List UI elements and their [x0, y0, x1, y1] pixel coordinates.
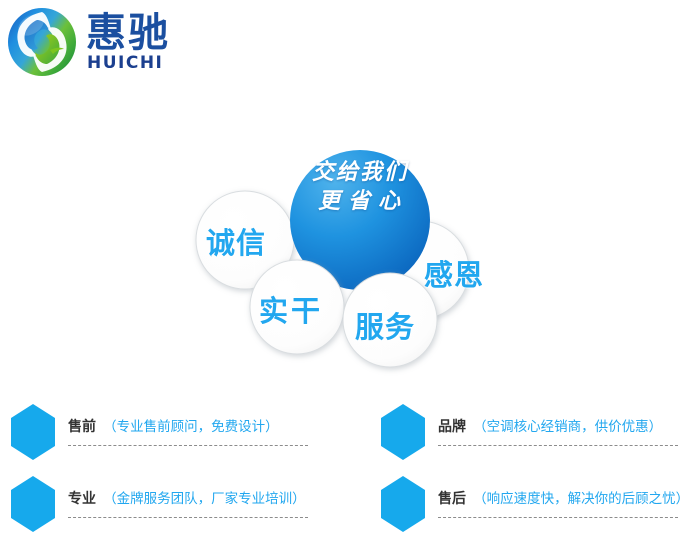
feature-desc: （响应速度快，解决你的后顾之忧）	[473, 491, 689, 507]
feature-desc: （空调核心经销商，供价优惠）	[473, 419, 662, 435]
service-feature-list: 售前 （专业售前顾问，免费设计） 品牌 （空调核心经销商，供价优惠） 专业 （金…	[0, 395, 700, 538]
center-slogan: 交给我们 更省心	[290, 158, 430, 216]
feature-text: 品牌 （空调核心经销商，供价优惠）	[438, 415, 700, 436]
brand-name-cn: 惠驰	[86, 12, 170, 54]
feature-divider	[438, 445, 678, 446]
hexagon-icon	[10, 475, 56, 533]
feature-item-brand[interactable]: 品牌 （空调核心经销商，供价优惠）	[380, 403, 700, 465]
hexagon-icon	[10, 403, 56, 461]
bubble-chengxin: 诚信	[206, 220, 266, 262]
hexagon-icon	[380, 475, 426, 533]
feature-text: 专业 （金牌服务团队，厂家专业培训）	[68, 487, 340, 508]
bubble-ganen: 感恩	[424, 252, 484, 294]
brand-logo[interactable]: 惠驰 HUICHI	[4, 4, 214, 80]
core-values-graphic: 交给我们 更省心 诚信 实干 服务 感恩	[180, 120, 550, 380]
slogan-line-1: 交给我们	[290, 158, 430, 187]
hexagon-icon	[380, 403, 426, 461]
feature-text: 售后 （响应速度快，解决你的后顾之忧）	[438, 487, 700, 508]
feature-divider	[438, 517, 678, 518]
feature-item-aftersale[interactable]: 售后 （响应速度快，解决你的后顾之忧）	[380, 475, 700, 537]
feature-title: 售前	[68, 419, 96, 435]
feature-item-presale[interactable]: 售前 （专业售前顾问，免费设计）	[10, 403, 340, 465]
brand-wordmark: 惠驰 HUICHI	[86, 12, 211, 74]
feature-desc: （金牌服务团队，厂家专业培训）	[103, 491, 306, 507]
feature-title: 品牌	[438, 419, 466, 435]
feature-item-professional[interactable]: 专业 （金牌服务团队，厂家专业培训）	[10, 475, 340, 537]
feature-divider	[68, 445, 308, 446]
feature-title: 专业	[68, 491, 96, 507]
feature-text: 售前 （专业售前顾问，免费设计）	[68, 415, 340, 436]
slogan-line-2: 更省心	[290, 187, 430, 216]
feature-title: 售后	[438, 491, 466, 507]
huichi-circular-swirl-logo	[6, 6, 78, 78]
bubble-shigan: 实干	[259, 288, 323, 330]
brand-name-en: HUICHI	[87, 54, 163, 72]
feature-divider	[68, 517, 308, 518]
bubble-fuwu: 服务	[355, 304, 415, 346]
feature-desc: （专业售前顾问，免费设计）	[103, 419, 279, 435]
